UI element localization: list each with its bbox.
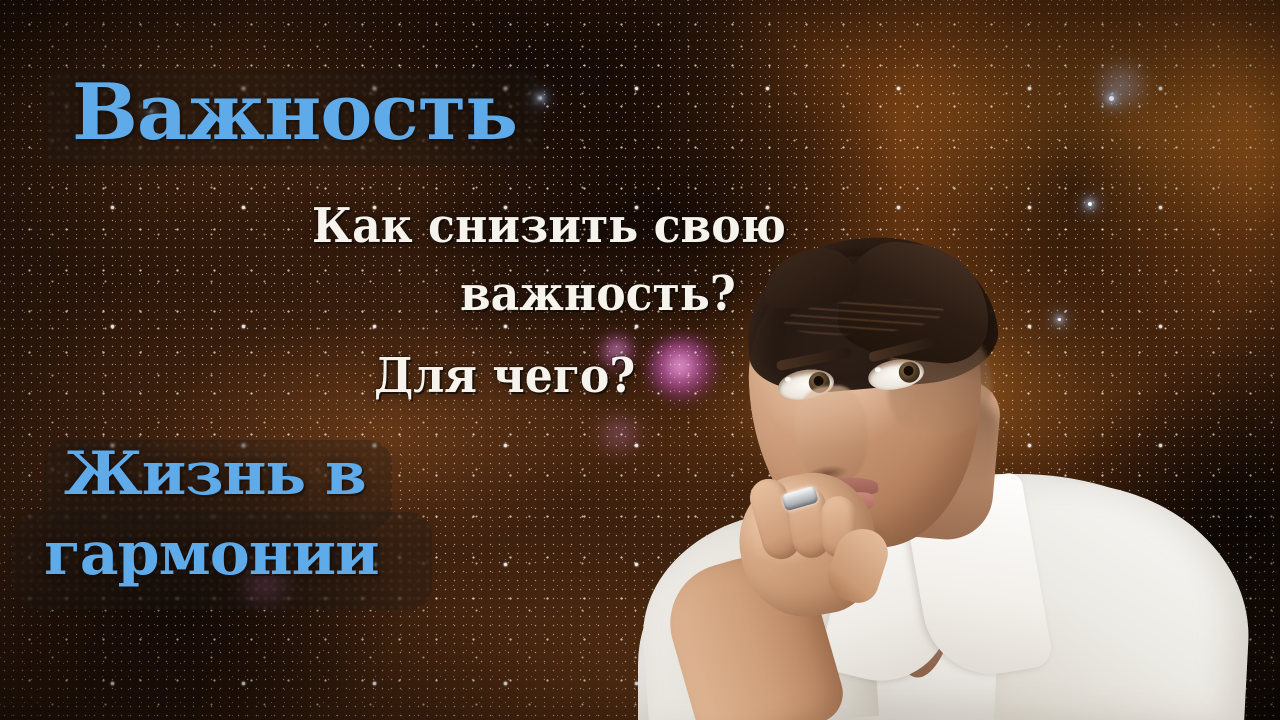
subtitle-line-2: важность?: [460, 270, 736, 318]
subtitle-line-3: Для чего?: [374, 352, 635, 400]
subtitle-line-1: Как снизить свою: [312, 202, 786, 250]
channel-badge-line-2: гармонии: [44, 524, 379, 584]
page-title: Важность: [72, 74, 517, 152]
channel-badge-line-1: Жизнь в: [64, 444, 366, 504]
video-thumbnail: Важность Как снизить свою важность? Для …: [0, 0, 1280, 720]
